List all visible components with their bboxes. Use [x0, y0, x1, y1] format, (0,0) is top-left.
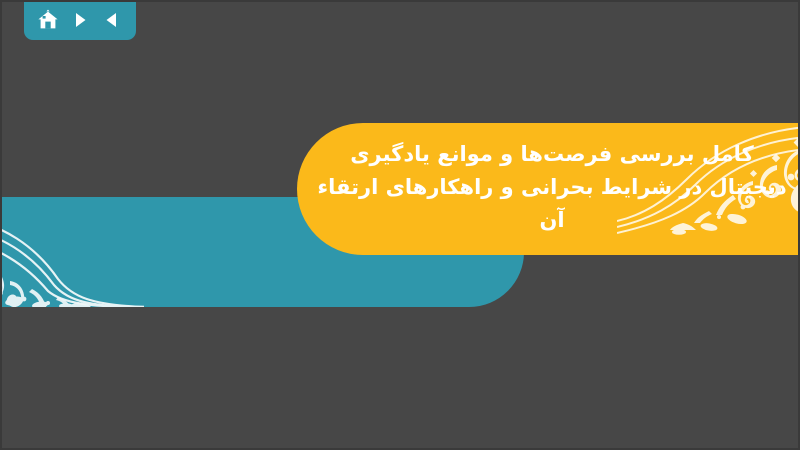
teal-arabesque-ornament — [0, 197, 144, 307]
home-icon — [36, 8, 60, 32]
presentation-slide: کامل بررسی فرصت‌ها و موانع یادگیری دیجیت… — [0, 0, 800, 450]
orange-title-band — [297, 123, 800, 255]
slide-navigation-bar — [24, 0, 136, 40]
home-button[interactable] — [35, 7, 61, 33]
previous-slide-button[interactable] — [99, 7, 125, 33]
orange-arabesque-ornament — [617, 123, 800, 235]
next-slide-button[interactable] — [67, 7, 93, 33]
next-slide-icon — [70, 10, 90, 30]
previous-slide-icon — [102, 10, 122, 30]
